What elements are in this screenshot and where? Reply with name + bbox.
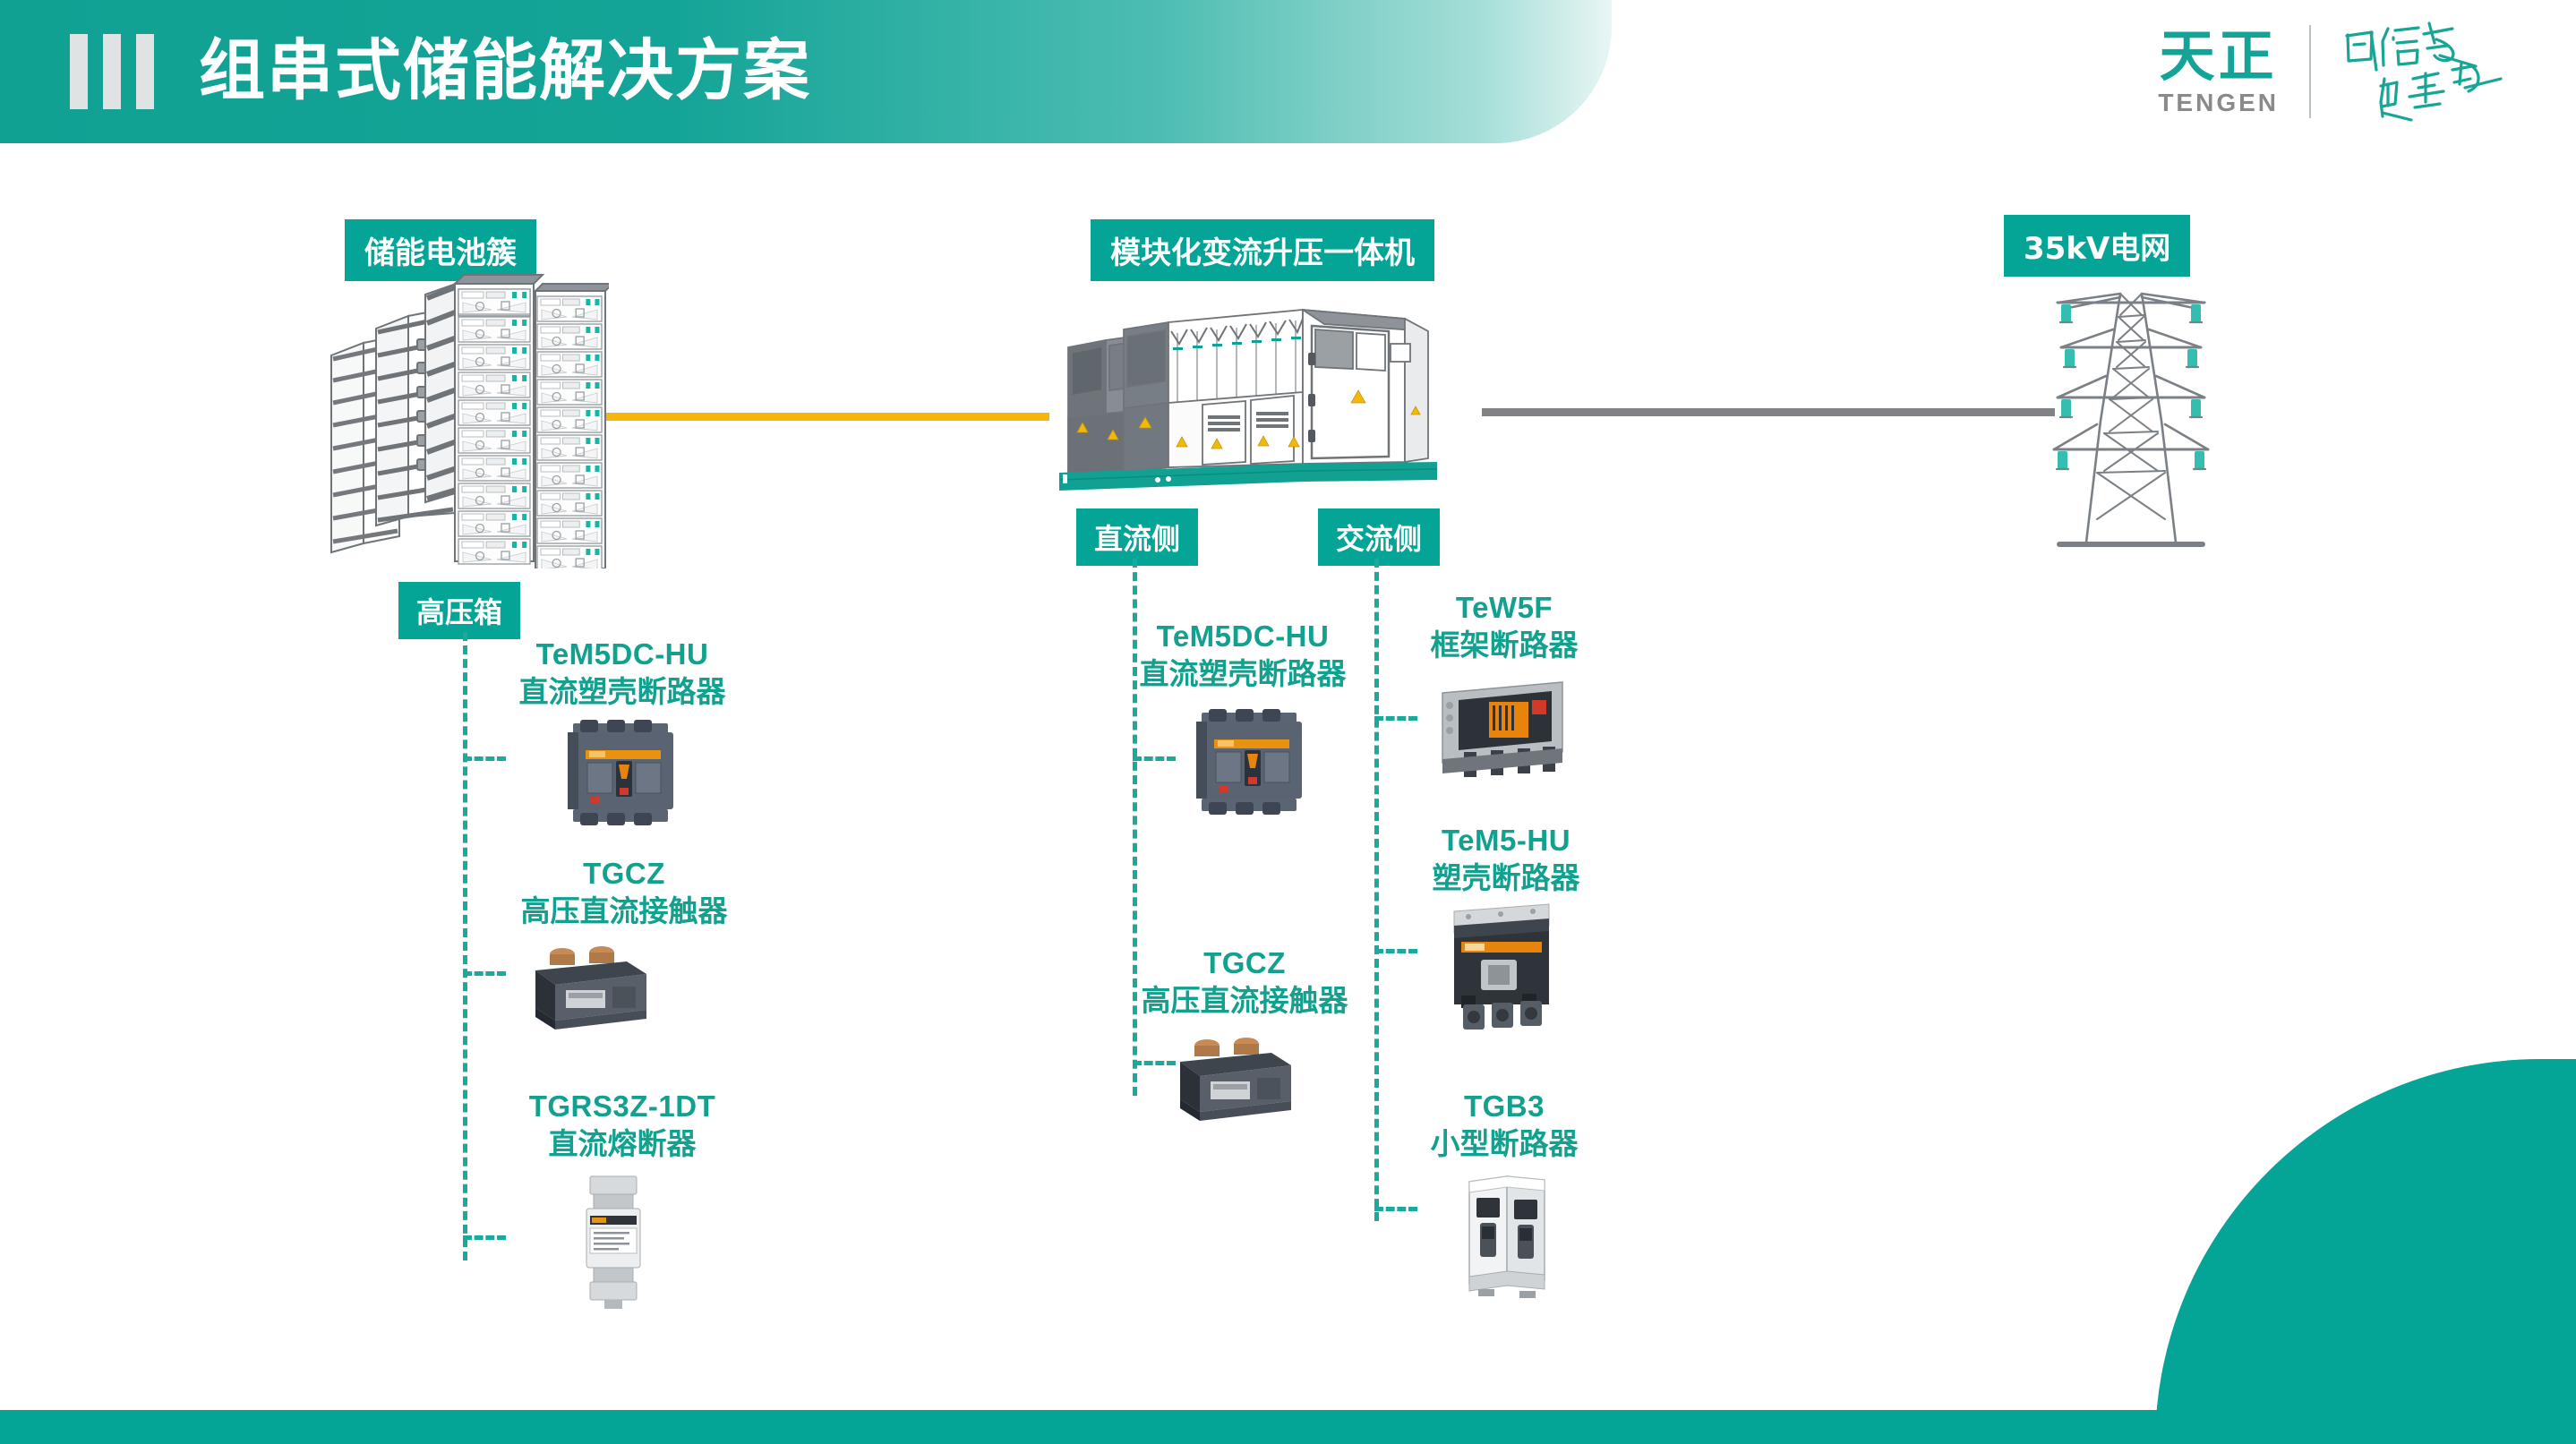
slogan-calligraphy-icon — [2341, 16, 2512, 128]
connector-ac-p2 — [1374, 949, 1417, 953]
badge-grid: 35kV电网 — [2004, 215, 2190, 277]
molded-case-circuit-breaker-ac-icon — [1442, 895, 1567, 1038]
product-label-tem5-hu: TeM5-HU 塑壳断路器 — [1408, 822, 1605, 896]
product-label-tgcz-dc: TGCZ 高压直流接触器 — [1133, 944, 1356, 1019]
badge-dc-side: 直流侧 — [1076, 508, 1198, 566]
product-name: 高压直流接触器 — [1133, 982, 1356, 1020]
connector-battery-p2 — [463, 971, 506, 976]
molded-case-circuit-breaker-dc-icon-2 — [1182, 705, 1316, 826]
product-code: TeM5-HU — [1408, 822, 1605, 859]
logo-divider — [2309, 25, 2311, 118]
dc-fuse-icon — [560, 1171, 667, 1319]
title-bars-icon — [70, 34, 154, 109]
product-code: TeW5F — [1406, 589, 1603, 627]
product-code: TGB3 — [1415, 1088, 1594, 1125]
badge-high-voltage-box: 高压箱 — [398, 582, 520, 639]
product-code: TeM5DC-HU — [515, 636, 730, 673]
product-label-tem5dc-hu-dc: TeM5DC-HU 直流塑壳断路器 — [1135, 618, 1350, 692]
page-title: 组串式储能解决方案 — [199, 21, 811, 120]
modular-pcs-container-icon — [1043, 304, 1446, 501]
transmission-tower-icon — [2041, 278, 2221, 560]
logo-en-text: TENGEN — [2158, 89, 2279, 117]
miniature-circuit-breaker-icon — [1455, 1164, 1562, 1303]
connector-battery-p3 — [463, 1235, 506, 1240]
badge-battery-cluster: 储能电池簇 — [345, 219, 536, 281]
logo-mark: 天正 TENGEN — [2158, 26, 2279, 117]
product-name: 塑壳断路器 — [1408, 859, 1605, 897]
product-code: TeM5DC-HU — [1135, 618, 1350, 655]
product-label-tem5dc-hu-battery: TeM5DC-HU 直流塑壳断路器 — [515, 636, 730, 710]
product-label-tgb3: TGB3 小型断路器 — [1415, 1088, 1594, 1162]
product-name: 直流塑壳断路器 — [1135, 655, 1350, 693]
product-name: 直流熔断器 — [501, 1125, 743, 1163]
product-name: 直流塑壳断路器 — [515, 673, 730, 711]
ac-bus-line — [1482, 408, 2055, 416]
hv-dc-contactor-icon-2 — [1164, 1022, 1307, 1134]
product-code: TGRS3Z-1DT — [501, 1088, 743, 1125]
connector-ac-p1 — [1374, 716, 1417, 721]
badge-pcs-container: 模块化变流升压一体机 — [1091, 219, 1434, 281]
product-label-tgcz-battery: TGCZ 高压直流接触器 — [512, 855, 736, 929]
product-label-tew5f: TeW5F 框架断路器 — [1406, 589, 1603, 663]
hv-dc-contactor-icon — [519, 931, 663, 1043]
connector-dc-p1 — [1133, 756, 1176, 761]
product-name: 高压直流接触器 — [512, 893, 736, 930]
product-code: TGCZ — [1133, 944, 1356, 982]
connector-ac-p3 — [1374, 1207, 1417, 1211]
slide-canvas: 组串式储能解决方案 天正 TENGEN — [0, 0, 2576, 1444]
product-name: 小型断路器 — [1415, 1125, 1594, 1163]
dc-bus-line — [588, 413, 1049, 421]
connector-battery-stem — [463, 632, 467, 1260]
product-code: TGCZ — [512, 855, 736, 893]
logo-cn-text: 天正 — [2160, 26, 2278, 87]
badge-ac-side: 交流侧 — [1318, 508, 1440, 566]
connector-battery-p1 — [463, 756, 506, 761]
brand-logo: 天正 TENGEN — [2158, 13, 2512, 131]
product-label-tgrs3z-1dt: TGRS3Z-1DT 直流熔断器 — [501, 1088, 743, 1162]
corner-decoration — [2155, 1059, 2576, 1444]
product-name: 框架断路器 — [1406, 627, 1603, 664]
air-circuit-breaker-icon — [1437, 670, 1576, 790]
molded-case-circuit-breaker-dc-icon — [553, 716, 688, 837]
connector-ac-stem — [1374, 559, 1379, 1221]
battery-rack-cluster-icon — [322, 273, 609, 573]
bottom-accent-bar — [0, 1410, 2576, 1444]
